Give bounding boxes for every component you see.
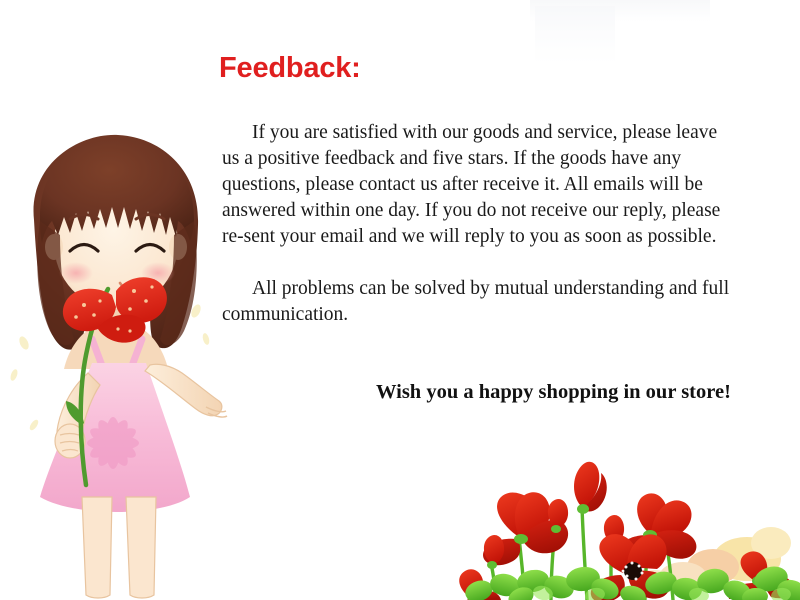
paragraph-1-line-5: re-sent your email and we will reply to … <box>222 224 770 250</box>
feedback-body: If you are satisfied with our goods and … <box>222 120 770 328</box>
girl-cheek-left <box>59 262 93 284</box>
paragraph-1: If you are satisfied with our goods and … <box>222 120 770 250</box>
paragraph-2-line-1: All problems can be solved by mutual und… <box>252 278 729 299</box>
feedback-notice-page: Feedback: If you are satisfied with our … <box>0 0 800 600</box>
paragraph-2: All problems can be solved by mutual und… <box>222 276 770 328</box>
paragraph-1-line-3: questions, please contact us after recei… <box>222 172 770 198</box>
red-poppy-border-illustration <box>455 455 800 600</box>
cartoon-girl-illustration <box>0 125 235 600</box>
girl-leg-right <box>126 497 156 598</box>
paragraph-2-line-2: communication. <box>222 302 770 328</box>
girl-leg-left <box>82 497 112 598</box>
background-wash-block <box>535 6 615 64</box>
paragraph-1-line-2: us a positive feedback and five stars. I… <box>222 146 770 172</box>
background-wash-top <box>530 0 710 22</box>
paragraph-1-line-4: answered within one day. If you do not r… <box>222 198 770 224</box>
paragraph-1-line-1: If you are satisfied with our goods and … <box>252 122 717 143</box>
poppy-bud-top <box>574 462 607 514</box>
page-title: Feedback: <box>219 52 361 85</box>
closing-message: Wish you a happy shopping in our store! <box>376 381 731 404</box>
